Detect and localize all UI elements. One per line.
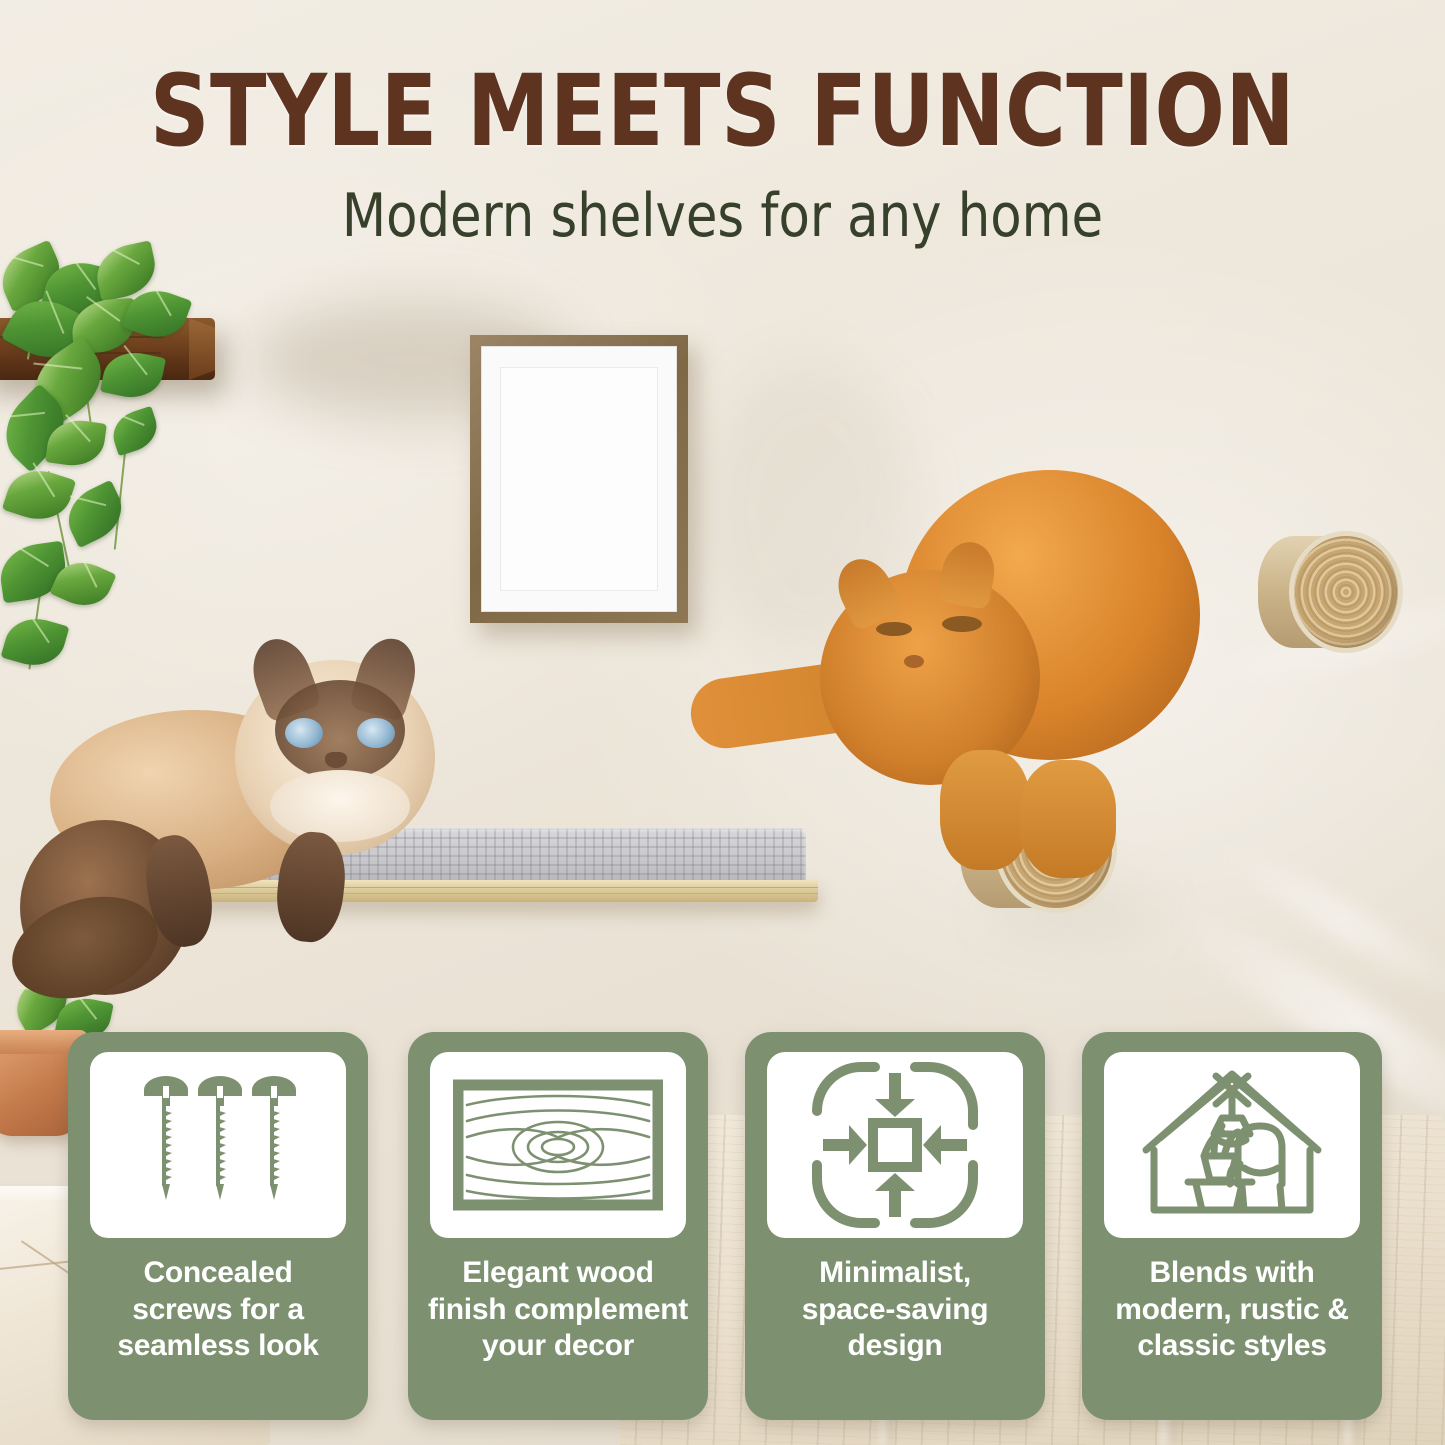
frame-mat: [481, 346, 677, 612]
screws-icon: [118, 1070, 318, 1220]
feature-icon-panel: [1104, 1052, 1360, 1238]
frame-inner-border: [500, 367, 657, 591]
birman-cat: [20, 620, 460, 1000]
feature-icon-panel: [767, 1052, 1023, 1238]
feature-label: Concealedscrews for aseamless look: [83, 1255, 353, 1365]
page-title: STYLE MEETS FUNCTION: [51, 62, 1395, 161]
orange-cat: [690, 470, 1210, 890]
feature-card-concealed-screws[interactable]: Concealedscrews for aseamless look: [68, 1032, 368, 1420]
feature-card-space-saving[interactable]: Minimalist,space-savingdesign: [745, 1032, 1045, 1420]
home-interior-icon: [1132, 1064, 1332, 1226]
page-subtitle: Modern shelves for any home: [36, 186, 1409, 246]
feature-icon-panel: [430, 1052, 686, 1238]
feature-icon-panel: [90, 1052, 346, 1238]
feature-card-blends-styles[interactable]: Blends withmodern, rustic &classic style…: [1082, 1032, 1382, 1420]
feature-card-wood-finish[interactable]: Elegant woodfinish complementyour decor: [408, 1032, 708, 1420]
feature-label: Minimalist,space-savingdesign: [760, 1255, 1030, 1365]
product-infographic: STYLE MEETS FUNCTION Modern shelves for …: [0, 0, 1445, 1445]
space-saving-icon: [809, 1059, 981, 1231]
picture-frame: [470, 335, 688, 623]
wood-grain-icon: [453, 1079, 663, 1211]
feature-cards: Concealedscrews for aseamless look: [0, 1032, 1445, 1432]
feature-label: Blends withmodern, rustic &classic style…: [1097, 1255, 1367, 1365]
feature-label: Elegant woodfinish complementyour decor: [423, 1255, 693, 1365]
sisal-step-upper: [1258, 536, 1398, 648]
